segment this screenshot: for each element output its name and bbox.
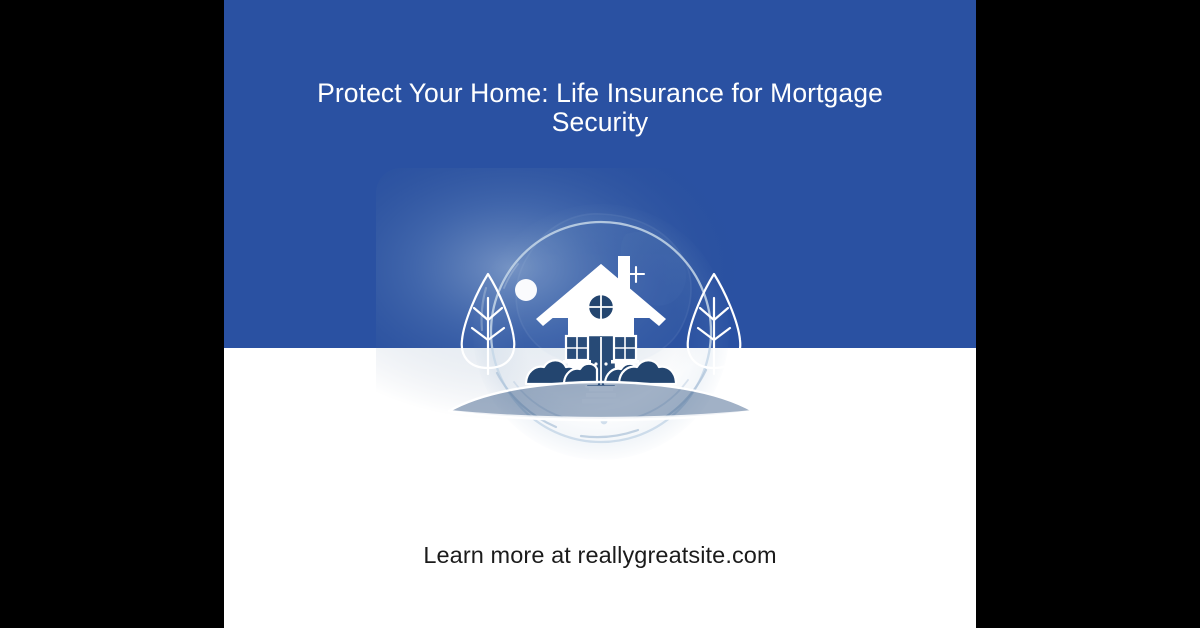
house-illustration <box>376 168 826 462</box>
poster-frame: Protect Your Home: Life Insurance for Mo… <box>0 0 1200 628</box>
left-window <box>563 336 591 364</box>
right-window <box>611 336 639 364</box>
attic-window <box>588 294 614 320</box>
sun-icon <box>515 279 537 301</box>
footer-website-note: Learn more at reallygreatsite.com <box>224 542 976 569</box>
illustration-card <box>376 168 826 462</box>
poster-canvas: Protect Your Home: Life Insurance for Mo… <box>224 0 976 628</box>
page-title: Protect Your Home: Life Insurance for Mo… <box>307 79 893 138</box>
